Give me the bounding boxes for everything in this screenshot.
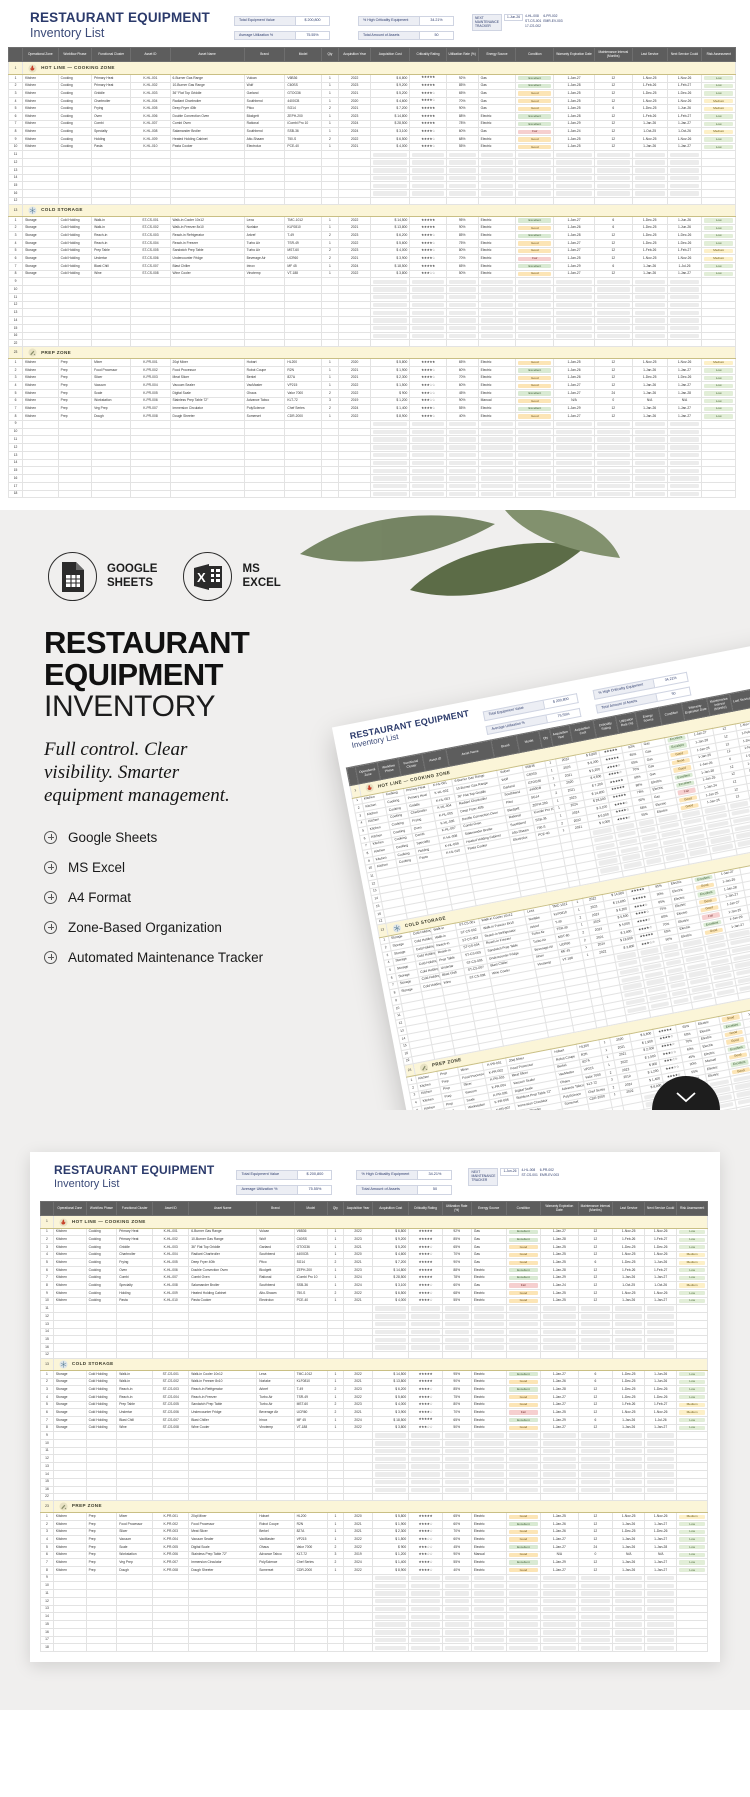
empty-cell	[58, 459, 91, 467]
table-cell: ★★★★☆	[409, 1401, 442, 1409]
table-cell: MF 45	[294, 1416, 327, 1424]
empty-cell	[86, 1574, 117, 1582]
ghost-row: 14	[41, 1613, 708, 1621]
empty-cell	[446, 420, 478, 428]
empty-cell	[86, 1313, 117, 1321]
empty-cell	[667, 278, 702, 286]
ghost-row: 10	[9, 428, 736, 436]
criticality-stars: ★★★★☆	[419, 1410, 433, 1414]
table-cell: Excellent	[506, 1520, 541, 1528]
table-cell: ★★★★★	[409, 1266, 442, 1274]
table-cell: K-HL-005	[131, 105, 170, 113]
table-cell: 1-Jan-27	[645, 1424, 677, 1432]
empty-cell	[594, 166, 632, 174]
empty-cell	[541, 1336, 578, 1344]
empty-cell	[506, 1455, 541, 1463]
empty-cell	[117, 1463, 153, 1471]
empty-cell	[58, 436, 91, 444]
empty-cell	[23, 166, 59, 174]
ghost-row: 11	[41, 1590, 708, 1598]
row-number: 13	[41, 1320, 54, 1328]
status-badge: Low	[679, 1395, 705, 1399]
zone-band: 1HOT LINE — COOKING ZONE	[9, 62, 736, 74]
table-cell: 24	[578, 1543, 613, 1551]
table-cell: K-PR-005	[153, 1543, 189, 1551]
empty-cell	[667, 174, 702, 182]
table-cell: PCE-40	[294, 1297, 327, 1305]
table-cell: 12	[594, 113, 632, 121]
empty-cell	[339, 182, 371, 190]
empty-cell	[131, 159, 170, 167]
table-cell: Cold Holding	[58, 263, 91, 271]
badge-line2: EXCEL	[242, 577, 280, 591]
table-cell: ★★★☆☆	[410, 382, 446, 390]
table-cell: $ 6,200	[371, 232, 410, 240]
status-badge: Low	[679, 1530, 705, 1534]
table-row: 3KitchenPrepSlicerK-PR-003Meat SlicerBer…	[9, 374, 736, 382]
empty-cell	[86, 1470, 117, 1478]
empty-cell	[516, 428, 554, 436]
criticality-stars: ★★★☆☆	[421, 398, 435, 402]
empty-cell	[339, 332, 371, 340]
empty-cell	[554, 436, 595, 444]
empty-cell	[131, 482, 170, 490]
empty-cell	[339, 198, 371, 205]
table-cell: Walk-in Cooler 10x12	[170, 217, 244, 225]
empty-cell	[409, 1613, 442, 1621]
empty-cell	[244, 459, 285, 467]
empty-cell	[702, 459, 736, 467]
table-cell: Prep	[58, 397, 91, 405]
table-cell: 1-Jan-27	[541, 1566, 578, 1574]
row-number: 6	[9, 113, 23, 121]
empty-cell	[321, 332, 338, 340]
table-cell: $ 3,100	[373, 1282, 409, 1290]
ghost-row: 11	[41, 1305, 708, 1313]
table-cell: 12	[594, 405, 632, 413]
empty-cell	[471, 1486, 506, 1494]
empty-cell	[343, 1463, 372, 1471]
empty-cell	[667, 475, 702, 483]
empty-cell	[371, 198, 410, 205]
ghost-row: 15	[9, 467, 736, 475]
empty-cell	[506, 1486, 541, 1494]
empty-cell	[446, 490, 478, 498]
table-cell: 12	[594, 382, 632, 390]
table-cell: 1-Jan-29	[554, 263, 595, 271]
criticality-stars: ★★★★☆	[419, 1529, 433, 1533]
table-cell: 2	[327, 1289, 343, 1297]
empty-cell	[86, 1605, 117, 1613]
empty-cell	[667, 444, 702, 452]
ms-excel-icon: X	[183, 552, 232, 601]
bottom-showcase: RESTAURANT EQUIPMENT Inventory List Tota…	[0, 1110, 750, 1710]
table-cell: ST-CS-007	[153, 1416, 189, 1424]
empty-cell	[339, 482, 371, 490]
empty-cell	[131, 340, 170, 347]
empty-cell	[131, 475, 170, 483]
empty-cell	[343, 1636, 372, 1644]
empty-cell	[343, 1313, 372, 1321]
empty-cell	[294, 1644, 327, 1652]
empty-cell	[327, 1439, 343, 1447]
empty-cell	[446, 324, 478, 332]
table-cell: 2020	[343, 1513, 372, 1521]
table-cell: 2022	[343, 1393, 372, 1401]
table-cell: GTOG36	[285, 90, 321, 98]
table-cell: ★★★★☆	[409, 1251, 442, 1259]
table-cell: Electric	[478, 255, 516, 263]
table-cell: Pasta Cooker	[189, 1297, 257, 1305]
flame-icon	[59, 1218, 68, 1227]
table-cell: Kitchen	[23, 413, 59, 421]
table-cell: 2022	[343, 1543, 372, 1551]
empty-cell	[506, 1621, 541, 1629]
table-cell: Cold Holding	[86, 1409, 117, 1417]
table-cell: 4400CB	[285, 97, 321, 105]
criticality-stars: ★★★★★	[419, 1379, 433, 1383]
empty-cell	[471, 1351, 506, 1358]
empty-cell	[613, 1447, 645, 1455]
status-badge: Excellent	[509, 1276, 539, 1280]
empty-cell	[153, 1494, 189, 1501]
empty-cell	[442, 1621, 471, 1629]
table-cell: K-PR-004	[131, 382, 170, 390]
empty-cell	[478, 159, 516, 167]
empty-cell	[578, 1597, 613, 1605]
table-cell: Cooking	[58, 128, 91, 136]
table-cell: 50%	[442, 1424, 471, 1432]
empty-cell	[410, 293, 446, 301]
table-cell: 1-Nov-25	[613, 1513, 645, 1521]
row-number: 4	[9, 382, 23, 390]
empty-cell	[471, 1628, 506, 1636]
table-cell: 1-Dec-25	[632, 217, 667, 225]
table-cell: 1-Jan-28	[667, 390, 702, 398]
criticality-stars: ★★★★☆	[421, 414, 435, 418]
zone-band: 13COLD STORAGE	[9, 204, 736, 216]
empty-cell	[667, 182, 702, 190]
empty-cell	[516, 151, 554, 159]
empty-cell	[578, 1582, 613, 1590]
empty-cell	[409, 1621, 442, 1629]
feature-label: Zone-Based Organization	[68, 920, 222, 935]
empty-cell	[409, 1336, 442, 1344]
spacer-row: 22	[9, 340, 736, 347]
table-row: 1KitchenCookingPrimary HeatK-HL-0016-Bur…	[9, 74, 736, 82]
column-header: Functional Cluster	[117, 1201, 153, 1215]
status-badge: Excellent	[509, 1418, 539, 1422]
table-cell: ★★★☆☆	[409, 1551, 442, 1559]
empty-cell	[410, 340, 446, 347]
table-cell: Undertar	[117, 1409, 153, 1417]
table-cell: 12	[594, 120, 632, 128]
table-cell: PolyScience	[257, 1559, 294, 1567]
empty-cell	[446, 451, 478, 459]
status-badge: Low	[679, 1522, 705, 1526]
empty-cell	[92, 174, 131, 182]
empty-cell	[409, 1344, 442, 1352]
empty-cell	[294, 1605, 327, 1613]
empty-cell	[578, 1320, 613, 1328]
table-cell: 2023	[343, 1386, 372, 1394]
table-cell: Excellent	[506, 1543, 541, 1551]
table-cell: 1-Jan-26	[554, 374, 595, 382]
empty-cell	[285, 444, 321, 452]
empty-cell	[554, 166, 595, 174]
table-cell: 1-Jan-26	[632, 120, 667, 128]
empty-cell	[442, 1597, 471, 1605]
empty-cell	[339, 324, 371, 332]
row-number: 12	[41, 1597, 54, 1605]
table-cell: 6-Burner Gas Range	[189, 1228, 257, 1236]
table-cell: Walk-in	[117, 1378, 153, 1386]
table-cell: 1-Nov-25	[632, 97, 667, 105]
criticality-stars: ★★★★★	[419, 1275, 433, 1279]
table-cell: Double Convection Oven	[170, 113, 244, 121]
table-cell: 4400CB	[294, 1251, 327, 1259]
zone-band: 23PREP ZONE	[9, 347, 736, 359]
table-cell: Hobart	[244, 359, 285, 367]
status-badge: Low	[679, 1245, 705, 1249]
empty-cell	[409, 1597, 442, 1605]
empty-cell	[632, 198, 667, 205]
table-cell: K-PR-007	[153, 1559, 189, 1567]
empty-cell	[667, 286, 702, 294]
empty-cell	[478, 324, 516, 332]
empty-cell	[409, 1494, 442, 1501]
empty-cell	[117, 1494, 153, 1501]
table-cell: TSR-49	[294, 1393, 327, 1401]
table-cell: 1	[327, 1424, 343, 1432]
table-cell: Low	[702, 90, 736, 98]
row-number: 2	[41, 1520, 54, 1528]
table-cell: 2021	[339, 224, 371, 232]
empty-cell	[321, 286, 338, 294]
empty-cell	[343, 1621, 372, 1629]
table-cell: Low	[677, 1543, 708, 1551]
table-cell: 12	[578, 1424, 613, 1432]
status-badge: Good	[518, 241, 551, 245]
table-row: 8StorageCold HoldingWineST-CS-008Wine Co…	[41, 1424, 708, 1432]
table-cell: Heated Holding Cabinet	[170, 136, 244, 144]
empty-cell	[506, 1447, 541, 1455]
table-cell: Double Convection Oven	[189, 1266, 257, 1274]
empty-cell	[294, 1621, 327, 1629]
empty-cell	[554, 293, 595, 301]
maintenance-tracker: NEXT MAINTENANCE TRACKER 1-Jun-26 4-HL-0…	[472, 14, 563, 31]
empty-cell	[516, 190, 554, 198]
empty-cell	[594, 286, 632, 294]
empty-cell	[632, 467, 667, 475]
empty-cell	[371, 467, 410, 475]
empty-cell	[86, 1336, 117, 1344]
table-cell: 1-Jan-26	[632, 367, 667, 375]
zone-title: COLD STORAGE	[41, 208, 83, 213]
table-cell: Kitchen	[53, 1274, 86, 1282]
empty-cell	[371, 309, 410, 317]
table-cell: Meat Slicer	[170, 374, 244, 382]
empty-cell	[339, 475, 371, 483]
empty-cell	[371, 278, 410, 286]
empty-cell	[53, 1351, 86, 1358]
table-cell: Vulcan	[244, 74, 285, 82]
table-cell: 1	[327, 1297, 343, 1305]
status-badge: Low	[679, 1418, 705, 1422]
table-cell: Electric	[478, 240, 516, 248]
chevron-down-icon	[675, 1090, 697, 1104]
empty-cell	[409, 1478, 442, 1486]
tracker-label: NEXT MAINTENANCE TRACKER	[472, 14, 502, 31]
table-cell: Storage	[53, 1370, 86, 1378]
table-cell: Walk-in Cooler 10x12	[189, 1370, 257, 1378]
table-cell: 65%	[442, 1513, 471, 1521]
table-cell: 2024	[339, 120, 371, 128]
table-cell: Cooking	[86, 1236, 117, 1244]
table-cell: 68%	[442, 1289, 471, 1297]
criticality-stars: ★★★☆☆	[419, 1425, 433, 1429]
table-cell: 70%	[442, 1528, 471, 1536]
knife-icon	[59, 1502, 68, 1511]
row-number: 8	[9, 128, 23, 136]
table-cell: 1	[327, 1520, 343, 1528]
empty-cell	[409, 1313, 442, 1321]
empty-cell	[189, 1478, 257, 1486]
empty-cell	[578, 1605, 613, 1613]
table-cell: SG14	[285, 105, 321, 113]
empty-cell	[327, 1351, 343, 1358]
table-cell: 12	[594, 367, 632, 375]
table-cell: Good	[506, 1297, 541, 1305]
empty-cell	[327, 1613, 343, 1621]
column-header: Criticality Rating	[410, 48, 446, 62]
row-number: 5	[41, 1401, 54, 1409]
empty-cell	[677, 1597, 708, 1605]
table-row: 7StorageCold HoldingBlast ChillST-CS-007…	[41, 1416, 708, 1424]
empty-cell	[117, 1628, 153, 1636]
status-badge: Excellent	[518, 368, 551, 372]
empty-cell	[410, 475, 446, 483]
empty-cell	[554, 286, 595, 294]
ghost-row: 16	[9, 190, 736, 198]
empty-cell	[294, 1582, 327, 1590]
row-number: 3	[41, 1386, 54, 1394]
empty-cell	[667, 309, 702, 317]
empty-cell	[170, 166, 244, 174]
table-cell: 1	[321, 263, 338, 271]
table-cell: Blast Chiller	[170, 263, 244, 271]
table-cell: 1-Dec-26	[645, 1244, 677, 1252]
table-cell: 95%	[442, 1370, 471, 1378]
table-cell: MST-60	[285, 247, 321, 255]
empty-cell	[371, 482, 410, 490]
table-cell: 2	[327, 1409, 343, 1417]
table-cell: Irinox	[257, 1416, 294, 1424]
table-cell: 1	[321, 224, 338, 232]
table-cell: 70%	[446, 255, 478, 263]
ghost-row: 16	[41, 1486, 708, 1494]
table-cell: $ 1,500	[371, 382, 410, 390]
table-cell: 1-Jan-26	[541, 1378, 578, 1386]
row-number: 11	[9, 436, 23, 444]
row-number: 14	[41, 1328, 54, 1336]
ghost-row: 13	[41, 1605, 708, 1613]
empty-cell	[257, 1447, 294, 1455]
table-cell: Charbroiler	[92, 97, 131, 105]
table-cell: 6	[594, 263, 632, 271]
table-cell: Cooking	[86, 1266, 117, 1274]
empty-cell	[257, 1336, 294, 1344]
table-cell: $ 4,000	[371, 143, 410, 151]
table-cell: 1-Jan-25	[554, 136, 595, 144]
table-cell: ★★★★★	[409, 1274, 442, 1282]
kpi-group: Total Equipment Value $ 200,800 Average …	[234, 16, 454, 40]
empty-cell	[170, 301, 244, 309]
empty-cell	[53, 1590, 86, 1598]
table-cell: SG14	[294, 1259, 327, 1267]
feature-label: Google Sheets	[68, 830, 157, 845]
empty-cell	[153, 1574, 189, 1582]
badge-line1: MS	[242, 563, 280, 577]
status-badge: Low	[704, 391, 733, 395]
row-number: 3	[41, 1244, 54, 1252]
empty-cell	[409, 1574, 442, 1582]
table-cell: 1-Jan-29	[541, 1416, 578, 1424]
empty-cell	[373, 1582, 409, 1590]
empty-cell	[506, 1439, 541, 1447]
ghost-row: 14	[9, 317, 736, 325]
snowflake-icon	[59, 1360, 68, 1369]
table-cell: Kitchen	[53, 1297, 86, 1305]
table-cell: KLT-72	[285, 397, 321, 405]
empty-cell	[294, 1494, 327, 1501]
empty-cell	[478, 166, 516, 174]
empty-cell	[257, 1320, 294, 1328]
empty-cell	[189, 1628, 257, 1636]
page-subtitle: Inventory List	[54, 1178, 214, 1192]
table-cell: 12	[594, 136, 632, 144]
empty-cell	[343, 1320, 372, 1328]
empty-cell	[327, 1344, 343, 1352]
criticality-stars: ★★★★★	[419, 1514, 433, 1518]
table-row: 4KitchenCookingCharbroilerK-HL-004Radian…	[41, 1251, 708, 1259]
empty-cell	[170, 159, 244, 167]
table-cell: K-PR-008	[131, 413, 170, 421]
table-cell: Blast Chill	[92, 263, 131, 271]
empty-cell	[410, 317, 446, 325]
empty-cell	[446, 198, 478, 205]
empty-cell	[327, 1597, 343, 1605]
empty-cell	[478, 278, 516, 286]
status-badge: Low	[679, 1291, 705, 1295]
criticality-stars: ★★★★★	[421, 114, 435, 118]
column-header: Qty	[321, 48, 338, 62]
table-cell: 1-Jan-26	[632, 270, 667, 278]
empty-cell	[321, 190, 338, 198]
kpi-label: Average Utilization %	[236, 1185, 298, 1195]
table-cell: 10-Burner Gas Range	[170, 82, 244, 90]
empty-cell	[371, 490, 410, 498]
table-cell: 1-Jan-27	[645, 1536, 677, 1544]
row-number: 11	[41, 1305, 54, 1313]
table-cell: ★★★☆☆	[410, 397, 446, 405]
table-cell: Medium	[677, 1259, 708, 1267]
ghost-row: 9	[41, 1574, 708, 1582]
table-cell: 12	[594, 74, 632, 82]
empty-cell	[446, 467, 478, 475]
empty-cell	[409, 1486, 442, 1494]
criticality-stars: ★★★★☆	[421, 368, 435, 372]
